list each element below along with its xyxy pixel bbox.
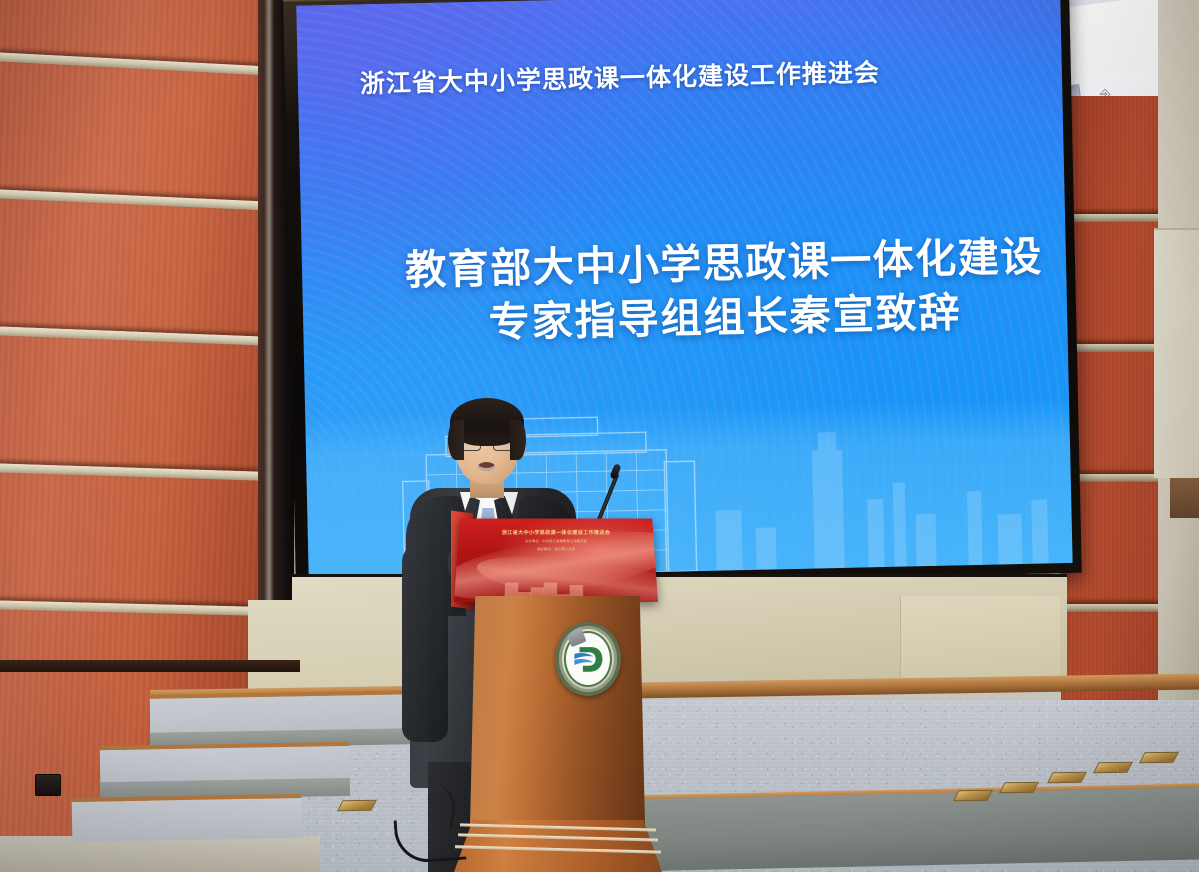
lectern-banner: 浙江省大中小学思政课一体化建设工作推进会 主办单位：中共浙江省委教育工作委员会 … [454,519,658,602]
lectern-banner-organizer: 主办单位：中共浙江省委教育工作委员会 [525,539,587,543]
floor-outlet-plate [1093,762,1133,774]
conference-photo-scene: ⎆ [0,0,1199,872]
floor-outlet-plate [953,790,993,802]
floor-outlet-plate [337,800,377,812]
stage-riser [600,787,1199,872]
hall-floor [0,836,320,872]
acoustic-panel-right [900,596,1060,684]
floor-outlet-plate [1139,752,1179,764]
wall-far-right-panel [1154,228,1199,478]
floor-outlet-plate [999,782,1039,794]
screen-header-title: 浙江省大中小学思政课一体化建设工作推进会 [360,51,981,101]
university-crest-icon [555,622,621,696]
crest-mark [571,642,605,676]
lectern: 浙江省大中小学思政课一体化建设工作推进会 主办单位：中共浙江省委教育工作委员会 … [440,478,670,872]
speaker-mouth [478,462,495,471]
wall-far-right-trim [1170,478,1199,518]
stage-step-bottom [72,794,303,842]
speaker-hair-side-right [510,420,526,460]
lectern-body-shading [470,596,645,826]
screen-main-title-line2: 专家指导组组长秦宣致辞 [395,283,1056,351]
screen-main-title: 教育部大中小学思政课一体化建设 专家指导组组长秦宣致辞 [393,229,1055,352]
floor-outlet-plate [1047,772,1087,784]
lectern-banner-host: 承办单位：浙江理工大学 [537,547,575,551]
speaker-hair-side-left [448,420,464,460]
lectern-banner-title: 浙江省大中小学思政课一体化建设工作推进会 [502,529,611,536]
power-socket-icon [35,774,61,796]
wall-base-trim [0,660,300,672]
